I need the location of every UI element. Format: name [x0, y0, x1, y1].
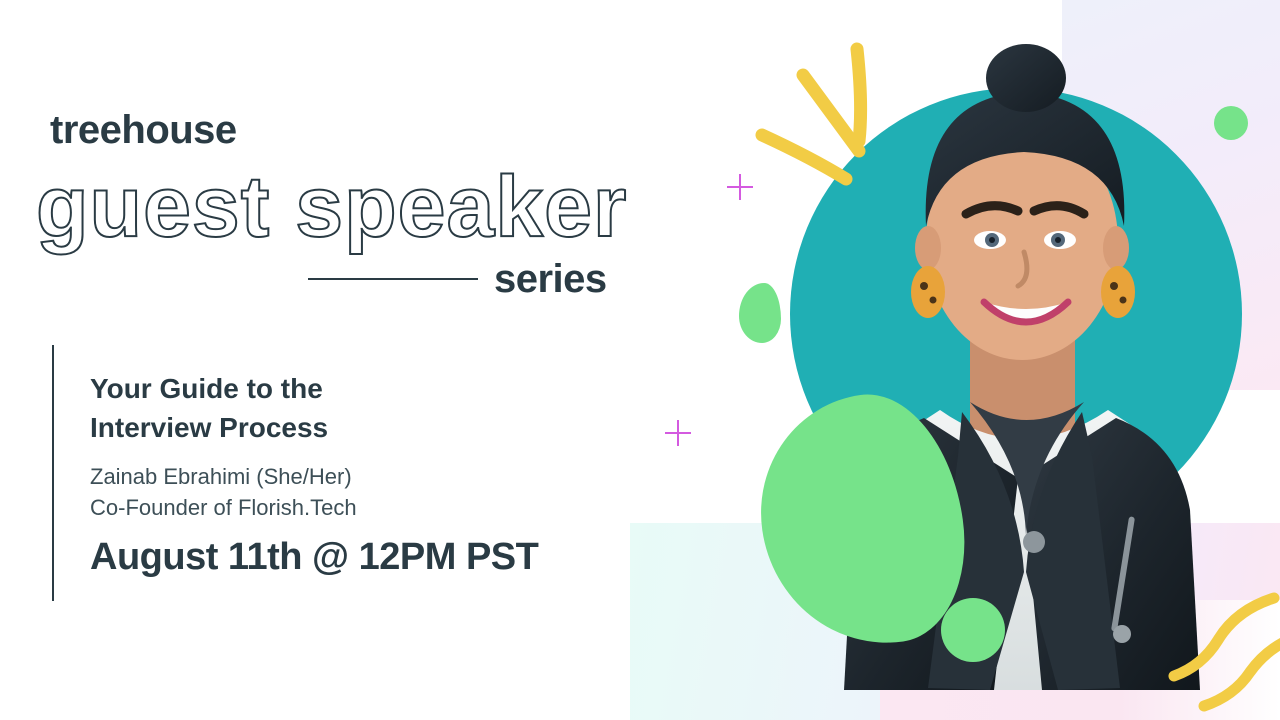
plus-mark-icon-1: [727, 174, 753, 200]
vertical-divider-rule: [52, 345, 54, 601]
brand-wordmark: treehouse: [50, 108, 237, 153]
sunburst-rays-icon: [740, 35, 900, 205]
green-blob-small: [739, 283, 781, 343]
green-dot-large: [941, 598, 1005, 662]
event-title: Your Guide to the Interview Process: [90, 370, 560, 447]
green-dot-small: [1214, 106, 1248, 140]
speaker-info: Zainab Ebrahimi (She/Her) Co-Founder of …: [90, 461, 560, 523]
series-row: series: [308, 254, 628, 304]
speaker-name: Zainab Ebrahimi (She/Her): [90, 461, 560, 492]
headline-outline: guest speaker: [36, 158, 627, 257]
plus-mark-icon-2: [665, 420, 691, 446]
event-datetime: August 11th @ 12PM PST: [90, 536, 650, 579]
speaker-role: Co-Founder of Florish.Tech: [90, 492, 560, 523]
event-title-line-2: Interview Process: [90, 409, 560, 448]
series-label: series: [494, 257, 607, 302]
event-title-line-1: Your Guide to the: [90, 370, 560, 409]
promo-slide: treehouse guest speaker series Your Guid…: [0, 0, 1280, 720]
wavy-lines-icon: [1160, 580, 1280, 720]
series-divider-rule: [308, 278, 478, 280]
